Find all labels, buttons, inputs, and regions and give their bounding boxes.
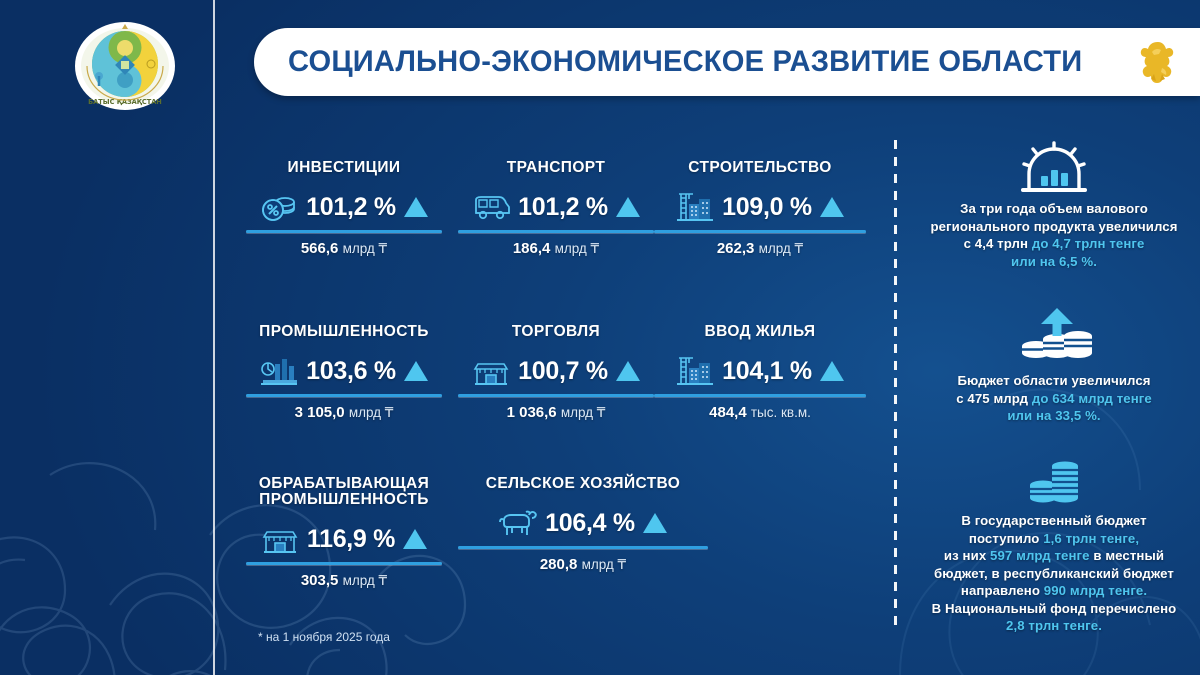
summary-line-3a-plain: из них bbox=[944, 548, 990, 563]
gear-barchart-icon bbox=[1015, 140, 1093, 194]
metric-underline bbox=[246, 230, 442, 233]
metric-unit: млрд ₸ bbox=[555, 241, 600, 256]
summary-line-5-plain: направлено bbox=[961, 583, 1044, 598]
coin-stacks-icon bbox=[1019, 458, 1089, 506]
metric-amount: 303,5 bbox=[301, 572, 339, 589]
metrics-row-2: ПРОМЫШЛЕННОСТЬ 103,6 % 3 105,0 bbox=[246, 324, 866, 421]
metric-amount: 484,4 bbox=[709, 404, 747, 421]
dashed-divider bbox=[894, 140, 897, 632]
trend-up-icon bbox=[615, 359, 641, 383]
metric-card-housing[interactable]: ВВОД ЖИЛЬЯ 104,1 % 484,4 тыс. к bbox=[654, 324, 866, 421]
metric-percent: 116,9 % bbox=[307, 525, 395, 554]
summary-line-2: регионального продукта увеличился bbox=[930, 219, 1177, 234]
metric-amount: 566,6 bbox=[301, 240, 339, 257]
metric-card-investments[interactable]: ИНВЕСТИЦИИ 101,2 % bbox=[246, 160, 442, 257]
metric-card-trade[interactable]: ТОРГОВЛЯ 100,7 % 1 036,6 млрд ₸ bbox=[458, 324, 654, 421]
summary-line-6: В Национальный фонд перечислено bbox=[932, 601, 1177, 616]
metric-underline bbox=[458, 394, 654, 397]
metric-value: 186,4 млрд ₸ bbox=[458, 240, 654, 257]
summary-line-4: бюджет, в республиканский бюджет bbox=[934, 566, 1174, 581]
metric-value: 280,8 млрд ₸ bbox=[458, 556, 708, 573]
metric-underline bbox=[246, 562, 442, 565]
summary-text: Бюджет области увеличился с 475 млрд до … bbox=[912, 372, 1196, 425]
metric-card-agriculture[interactable]: СЕЛЬСКОЕ ХОЗЯЙСТВО 106,4 % 280,8 млрд ₸ bbox=[458, 476, 708, 589]
summary-text: В государственный бюджет поступило 1,6 т… bbox=[912, 512, 1196, 635]
metric-title: ВВОД ЖИЛЬЯ bbox=[654, 324, 866, 340]
metric-title: ТРАНСПОРТ bbox=[458, 160, 654, 176]
metric-unit: млрд ₸ bbox=[343, 241, 388, 256]
trend-up-icon bbox=[819, 359, 845, 383]
metric-value: 566,6 млрд ₸ bbox=[246, 240, 442, 257]
trend-up-icon bbox=[403, 195, 429, 219]
metric-unit: млрд ₸ bbox=[343, 573, 388, 588]
metric-card-construction[interactable]: СТРОИТЕЛЬСТВО 109,0 % 262,3 млр bbox=[654, 160, 866, 257]
metrics-grid: ИНВЕСТИЦИИ 101,2 % bbox=[246, 160, 866, 620]
trend-up-icon bbox=[403, 359, 429, 383]
metric-underline bbox=[246, 394, 442, 397]
summary-line-3-plain: с 4,4 трлн bbox=[964, 236, 1032, 251]
summary-line-1: За три года объем валового bbox=[960, 201, 1148, 216]
page-title: СОЦИАЛЬНО-ЭКОНОМИЧЕСКОЕ РАЗВИТИЕ ОБЛАСТИ bbox=[288, 45, 1082, 79]
metric-title: ПРОМЫШЛЕННОСТЬ bbox=[246, 324, 442, 340]
svg-text:БАТЫС ҚАЗАҚСТАН: БАТЫС ҚАЗАҚСТАН bbox=[88, 98, 162, 106]
metric-percent: 104,1 % bbox=[722, 357, 812, 386]
metric-card-manufacturing[interactable]: ОБРАБАТЫВАЮЩАЯ ПРОМЫШЛЕННОСТЬ 116,9 % 30… bbox=[246, 476, 442, 589]
metric-title: СТРОИТЕЛЬСТВО bbox=[654, 160, 866, 176]
metric-amount: 1 036,6 bbox=[507, 404, 557, 421]
trend-up-icon bbox=[642, 511, 668, 535]
barys-winged-leopard-icon bbox=[1132, 36, 1184, 88]
metric-value: 1 036,6 млрд ₸ bbox=[458, 404, 654, 421]
metric-value: 262,3 млрд ₸ bbox=[654, 240, 866, 257]
cow-icon bbox=[498, 506, 538, 540]
coins-uparrow-icon bbox=[1010, 308, 1098, 366]
metric-amount: 280,8 bbox=[540, 556, 578, 573]
summary-text: За три года объем валового регионального… bbox=[912, 200, 1196, 270]
summary-line-3-highlight: или на 33,5 %. bbox=[1007, 408, 1100, 423]
metric-card-industry[interactable]: ПРОМЫШЛЕННОСТЬ 103,6 % 3 105,0 bbox=[246, 324, 442, 421]
metric-percent: 109,0 % bbox=[722, 193, 812, 222]
metric-unit: млрд ₸ bbox=[561, 405, 606, 420]
metric-amount: 186,4 bbox=[513, 240, 551, 257]
metric-percent: 101,2 % bbox=[306, 193, 396, 222]
summary-line-3a-highlight: 597 млрд тенге bbox=[990, 548, 1090, 563]
metric-value: 484,4 тыс. кв.м. bbox=[654, 404, 866, 421]
metric-underline bbox=[654, 394, 866, 397]
trend-up-icon bbox=[402, 527, 428, 551]
footnote: * на 1 ноября 2025 года bbox=[258, 630, 390, 644]
metric-percent: 101,2 % bbox=[518, 193, 608, 222]
shop-icon bbox=[471, 354, 511, 388]
metric-underline bbox=[458, 546, 708, 549]
vertical-divider bbox=[213, 0, 215, 675]
metric-value: 303,5 млрд ₸ bbox=[246, 572, 442, 589]
metric-value: 3 105,0 млрд ₸ bbox=[246, 404, 442, 421]
crane-buildings-icon bbox=[675, 354, 715, 388]
metric-unit: млрд ₸ bbox=[582, 557, 627, 572]
metric-percent: 106,4 % bbox=[545, 509, 635, 538]
summary-line-2-plain: поступило bbox=[969, 531, 1043, 546]
metric-amount: 262,3 bbox=[717, 240, 755, 257]
coins-percent-icon bbox=[259, 190, 299, 224]
bus-icon bbox=[471, 190, 511, 224]
shop-factory-icon bbox=[260, 522, 300, 556]
summary-block-budget[interactable]: Бюджет области увеличился с 475 млрд до … bbox=[912, 308, 1196, 425]
trend-up-icon bbox=[615, 195, 641, 219]
summary-block-state-budget[interactable]: В государственный бюджет поступило 1,6 т… bbox=[912, 458, 1196, 635]
trend-up-icon bbox=[819, 195, 845, 219]
metric-unit: тыс. кв.м. bbox=[751, 405, 811, 420]
summary-line-7-highlight: 2,8 трлн тенге. bbox=[1006, 618, 1102, 633]
summary-line-1: В государственный бюджет bbox=[961, 513, 1146, 528]
summary-line-1: Бюджет области увеличился bbox=[957, 373, 1150, 388]
metric-percent: 100,7 % bbox=[518, 357, 608, 386]
metric-title: ОБРАБАТЫВАЮЩАЯ ПРОМЫШЛЕННОСТЬ bbox=[246, 476, 442, 508]
summary-line-2-highlight: 1,6 трлн тенге, bbox=[1043, 531, 1139, 546]
region-emblem-logo: БАТЫС ҚАЗАҚСТАН bbox=[69, 18, 181, 114]
summary-block-grp[interactable]: За три года объем валового регионального… bbox=[912, 140, 1196, 270]
summary-line-3b-plain: в местный bbox=[1090, 548, 1164, 563]
summary-line-2-highlight: до 634 млрд тенге bbox=[1032, 391, 1152, 406]
summary-line-4-highlight: или на 6,5 %. bbox=[1011, 254, 1097, 269]
summary-line-3-highlight: до 4,7 трлн тенге bbox=[1032, 236, 1145, 251]
summary-line-5-highlight: 990 млрд тенге. bbox=[1044, 583, 1147, 598]
metric-underline bbox=[654, 230, 866, 233]
metric-amount: 3 105,0 bbox=[295, 404, 345, 421]
slide-canvas: БАТЫС ҚАЗАҚСТАН СОЦИАЛЬНО-ЭКОНОМИЧЕСКОЕ … bbox=[0, 0, 1200, 675]
metric-unit: млрд ₸ bbox=[759, 241, 804, 256]
metric-percent: 103,6 % bbox=[306, 357, 396, 386]
metric-card-transport[interactable]: ТРАНСПОРТ 101,2 % 186,4 млрд ₸ bbox=[458, 160, 654, 257]
metric-title: ИНВЕСТИЦИИ bbox=[246, 160, 442, 176]
metric-unit: млрд ₸ bbox=[349, 405, 394, 420]
summary-line-2-plain: с 475 млрд bbox=[956, 391, 1032, 406]
crane-buildings-icon bbox=[675, 190, 715, 224]
factory-icon bbox=[259, 354, 299, 388]
metrics-row-3: ОБРАБАТЫВАЮЩАЯ ПРОМЫШЛЕННОСТЬ 116,9 % 30… bbox=[246, 476, 866, 589]
metric-title: ТОРГОВЛЯ bbox=[458, 324, 654, 340]
metric-title: СЕЛЬСКОЕ ХОЗЯЙСТВО bbox=[458, 476, 708, 492]
metric-underline bbox=[458, 230, 654, 233]
slide-title-bar: СОЦИАЛЬНО-ЭКОНОМИЧЕСКОЕ РАЗВИТИЕ ОБЛАСТИ bbox=[254, 28, 1200, 96]
metrics-row-1: ИНВЕСТИЦИИ 101,2 % bbox=[246, 160, 866, 257]
